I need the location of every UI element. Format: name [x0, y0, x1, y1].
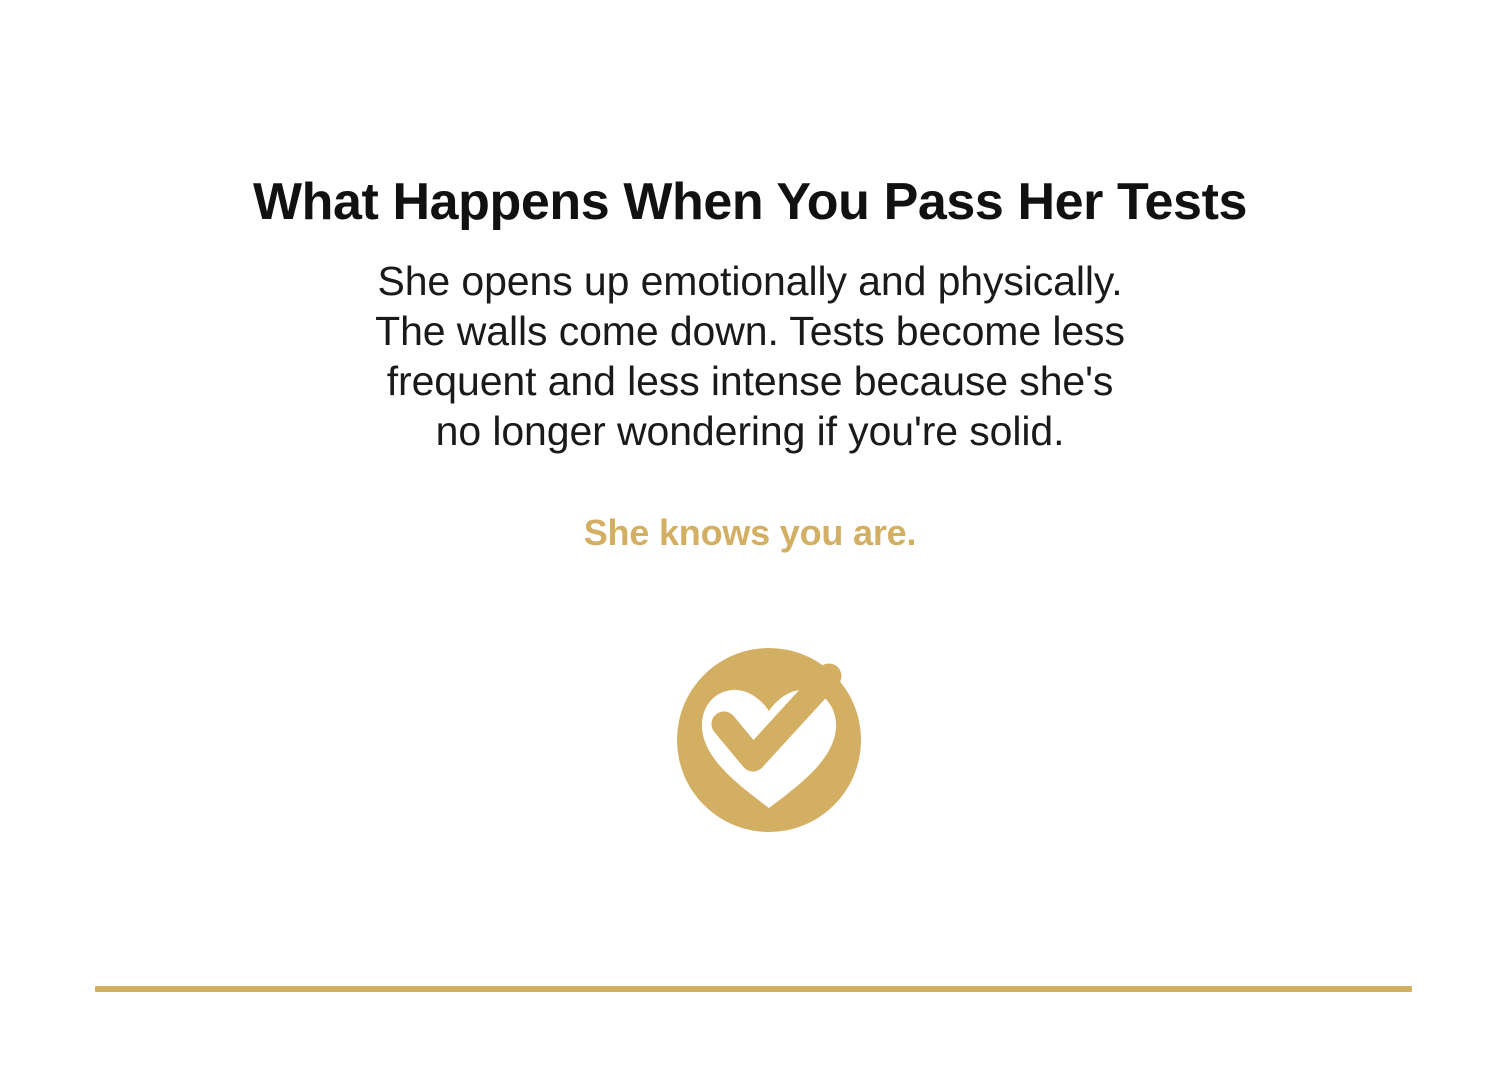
body-paragraph: She opens up emotionally and physically.… [0, 256, 1500, 456]
heart-check-icon [677, 648, 861, 832]
body-line: She opens up emotionally and physically. [0, 256, 1500, 306]
emphasis-text: She knows you are. [0, 512, 1500, 554]
bottom-accent-rule [95, 986, 1412, 992]
slide-canvas: What Happens When You Pass Her Tests She… [0, 0, 1500, 1080]
body-line: no longer wondering if you're solid. [0, 406, 1500, 456]
body-line: The walls come down. Tests become less [0, 306, 1500, 356]
body-line: frequent and less intense because she's [0, 356, 1500, 406]
page-title: What Happens When You Pass Her Tests [0, 173, 1500, 233]
